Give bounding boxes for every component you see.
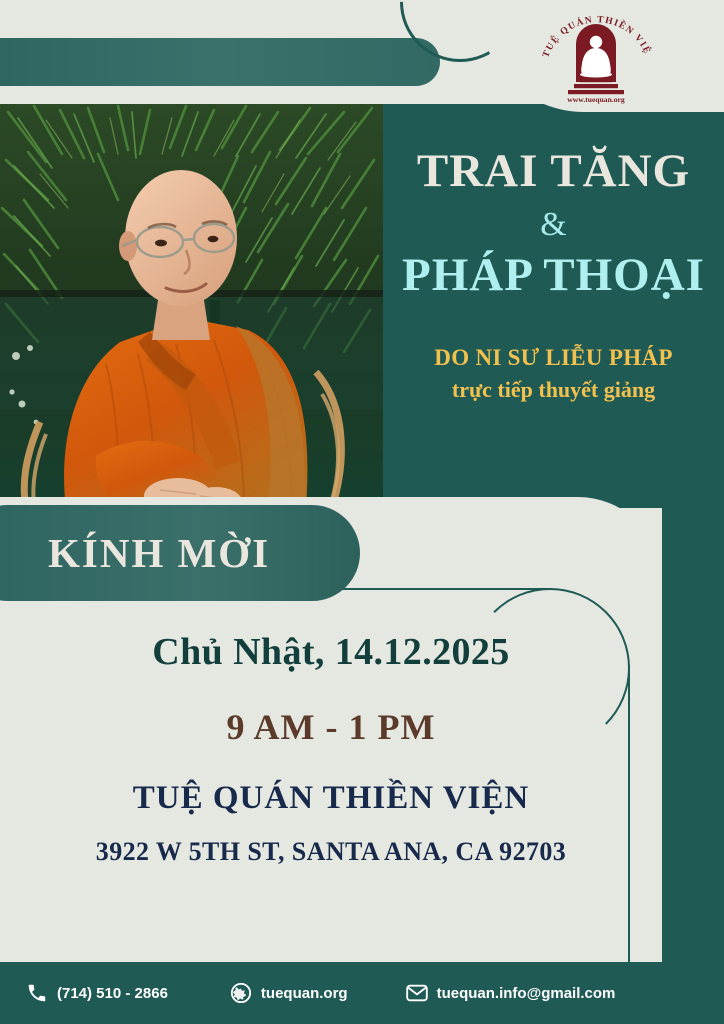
svg-text:www.tuequan.org: www.tuequan.org <box>567 95 625 104</box>
footer-contact-bar: (714) 510 - 2866 tuequan.org tuequan.inf… <box>0 962 724 1024</box>
footer-phone-text: (714) 510 - 2866 <box>57 985 168 1002</box>
footer-website[interactable]: tuequan.org <box>230 982 348 1004</box>
event-details: Chủ Nhật, 14.12.2025 9 AM - 1 PM TUỆ QUÁ… <box>0 630 662 867</box>
speaker-subtitle: trực tiếp thuyết giảng <box>452 377 655 403</box>
invitation-banner: KÍNH MỜI <box>0 505 360 601</box>
event-poster: TUỆ QUÁN THIỀN VIỆN www.tuequan.org <box>0 0 724 1024</box>
globe-icon <box>230 982 252 1004</box>
event-venue: TUỆ QUÁN THIỀN VIỆN <box>0 780 662 817</box>
temple-logo: TUỆ QUÁN THIỀN VIỆN www.tuequan.org <box>532 4 660 104</box>
title-line-1: TRAI TĂNG <box>417 146 690 197</box>
title-ampersand: & <box>540 201 566 249</box>
event-address: 3922 W 5TH ST, SANTA ANA, CA 92703 <box>0 837 662 867</box>
footer-email[interactable]: tuequan.info@gmail.com <box>406 982 616 1004</box>
monk-photo <box>0 104 383 508</box>
footer-website-text: tuequan.org <box>261 985 348 1002</box>
title-line-2: PHÁP THOẠI <box>402 250 705 301</box>
footer-email-text: tuequan.info@gmail.com <box>437 985 616 1002</box>
envelope-icon <box>406 982 428 1004</box>
phone-icon <box>26 982 48 1004</box>
event-time: 9 AM - 1 PM <box>0 706 662 748</box>
invitation-banner-label: KÍNH MỜI <box>48 529 270 577</box>
right-teal-strip <box>662 497 724 962</box>
event-date: Chủ Nhật, 14.12.2025 <box>0 630 662 674</box>
top-decor-bar <box>0 38 440 86</box>
headline-block: TRAI TĂNG & PHÁP THOẠI DO NI SƯ LIỄU PHÁ… <box>383 104 724 508</box>
speaker-name: DO NI SƯ LIỄU PHÁP <box>434 345 672 371</box>
footer-phone[interactable]: (714) 510 - 2866 <box>26 982 168 1004</box>
